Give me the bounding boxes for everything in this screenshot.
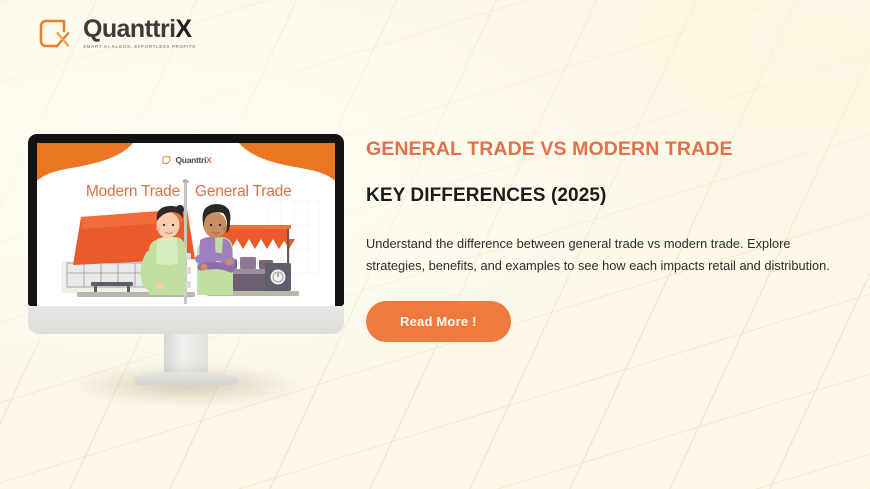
thumbnail-vs-label: vs xyxy=(183,179,190,185)
thumbnail-title-modern-trade: Modern Trade xyxy=(74,183,186,201)
article-copy-block: GENERAL TRADE VS MODERN TRADE KEY DIFFER… xyxy=(366,138,854,342)
article-thumbnail[interactable]: QuanttriX Modern Trade General Trade vs xyxy=(37,143,335,306)
two-merchants-back-to-back-illustration xyxy=(37,143,335,306)
monitor-screen[interactable]: QuanttriX Modern Trade General Trade vs xyxy=(37,143,335,306)
monitor-bezel: QuanttriX Modern Trade General Trade vs xyxy=(28,134,344,306)
monitor-chin xyxy=(28,306,344,334)
monitor-drop-shadow xyxy=(22,356,352,414)
article-description: Understand the difference between genera… xyxy=(366,233,852,277)
thumbnail-title-general-trade: General Trade xyxy=(186,183,298,201)
page-subtitle: KEY DIFFERENCES (2025) xyxy=(366,185,854,207)
monitor-stand-base xyxy=(134,372,238,385)
thumbnail-title-row: Modern Trade General Trade xyxy=(37,183,335,201)
brand-logo[interactable]: QuanttriX SMART AI-ALGOS, EFFORTLESS PRO… xyxy=(34,13,196,53)
page-title: GENERAL TRADE VS MODERN TRADE xyxy=(366,138,854,160)
thumbnail-brand-name: QuanttriX xyxy=(175,155,211,165)
brand-tagline: SMART AI-ALGOS, EFFORTLESS PROFITS xyxy=(83,45,196,50)
desktop-monitor: QuanttriX Modern Trade General Trade vs xyxy=(28,134,344,387)
brand-name: QuanttriX xyxy=(83,17,196,42)
quanttrix-bracket-icon xyxy=(160,154,172,166)
read-more-button[interactable]: Read More ! xyxy=(366,301,511,342)
thumbnail-brand-logo: QuanttriX xyxy=(160,154,211,166)
quanttrix-bracket-pen-icon xyxy=(34,13,74,53)
